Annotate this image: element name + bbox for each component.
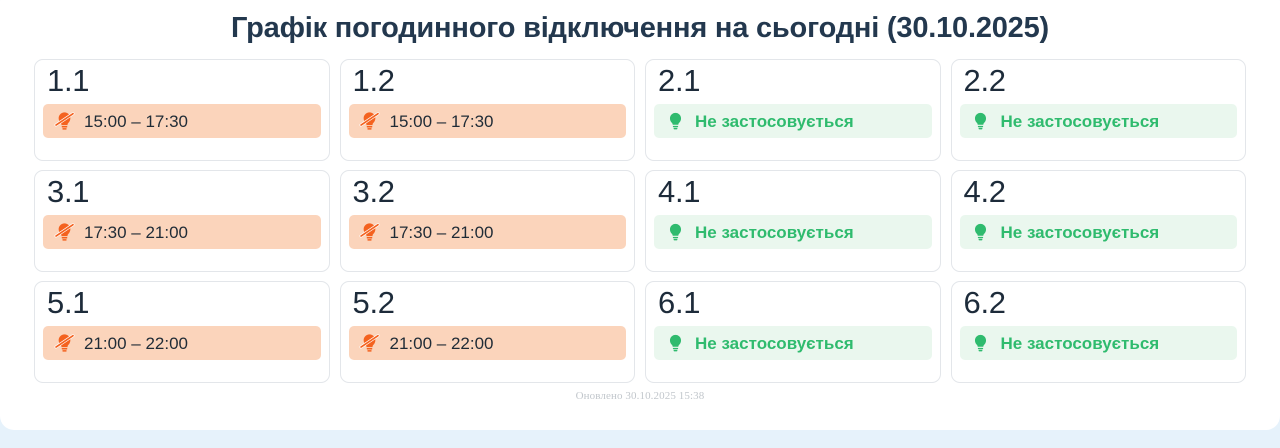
group-status-text: 17:30 – 21:00 xyxy=(390,224,494,241)
group-status-text: Не застосовується xyxy=(695,224,854,241)
bulb-off-icon xyxy=(359,109,381,133)
group-status-text: 17:30 – 21:00 xyxy=(84,224,188,241)
bulb-on-icon xyxy=(970,220,992,244)
bulb-on-icon xyxy=(970,331,992,355)
group-status-row: 21:00 – 22:00 xyxy=(43,326,321,360)
group-number-label: 2.1 xyxy=(654,64,932,99)
page-title: Графік погодинного відключення на сьогод… xyxy=(0,0,1280,45)
outage-group-card[interactable]: 2.1Не застосовується xyxy=(645,59,941,161)
group-status-text: 15:00 – 17:30 xyxy=(84,113,188,130)
outage-group-card[interactable]: 4.2Не застосовується xyxy=(951,170,1247,272)
group-status-row: 17:30 – 21:00 xyxy=(349,215,627,249)
bulb-off-icon xyxy=(359,331,381,355)
group-number-label: 6.2 xyxy=(960,286,1238,321)
bulb-on-icon xyxy=(664,220,686,244)
group-number-label: 5.2 xyxy=(349,286,627,321)
group-status-row: Не застосовується xyxy=(654,215,932,249)
outage-group-card[interactable]: 1.115:00 – 17:30 xyxy=(34,59,330,161)
group-status-text: 21:00 – 22:00 xyxy=(84,335,188,352)
group-number-label: 6.1 xyxy=(654,286,932,321)
outage-group-card[interactable]: 5.221:00 – 22:00 xyxy=(340,281,636,383)
group-number-label: 3.2 xyxy=(349,175,627,210)
outage-group-card[interactable]: 4.1Не застосовується xyxy=(645,170,941,272)
bulb-on-icon xyxy=(664,109,686,133)
group-status-row: 15:00 – 17:30 xyxy=(349,104,627,138)
group-status-text: Не застосовується xyxy=(1001,113,1160,130)
outage-group-card[interactable]: 6.1Не застосовується xyxy=(645,281,941,383)
group-number-label: 4.1 xyxy=(654,175,932,210)
group-status-row: 15:00 – 17:30 xyxy=(43,104,321,138)
outage-group-card[interactable]: 5.121:00 – 22:00 xyxy=(34,281,330,383)
group-status-row: 21:00 – 22:00 xyxy=(349,326,627,360)
group-status-row: Не застосовується xyxy=(960,326,1238,360)
outage-group-grid: 1.115:00 – 17:301.215:00 – 17:302.1Не за… xyxy=(34,45,1246,383)
group-number-label: 5.1 xyxy=(43,286,321,321)
group-status-text: 15:00 – 17:30 xyxy=(390,113,494,130)
bulb-on-icon xyxy=(664,331,686,355)
bulb-off-icon xyxy=(53,220,75,244)
outage-group-card[interactable]: 3.217:30 – 21:00 xyxy=(340,170,636,272)
bulb-off-icon xyxy=(53,109,75,133)
outage-group-card[interactable]: 2.2Не застосовується xyxy=(951,59,1247,161)
outage-group-card[interactable]: 6.2Не застосовується xyxy=(951,281,1247,383)
group-status-row: 17:30 – 21:00 xyxy=(43,215,321,249)
group-status-text: 21:00 – 22:00 xyxy=(390,335,494,352)
group-status-row: Не застосовується xyxy=(960,104,1238,138)
group-status-row: Не застосовується xyxy=(960,215,1238,249)
group-status-row: Не застосовується xyxy=(654,104,932,138)
group-number-label: 3.1 xyxy=(43,175,321,210)
bulb-off-icon xyxy=(53,331,75,355)
group-number-label: 1.1 xyxy=(43,64,321,99)
group-number-label: 4.2 xyxy=(960,175,1238,210)
group-number-label: 2.2 xyxy=(960,64,1238,99)
group-status-text: Не застосовується xyxy=(1001,224,1160,241)
group-status-text: Не застосовується xyxy=(1001,335,1160,352)
group-number-label: 1.2 xyxy=(349,64,627,99)
schedule-panel: Графік погодинного відключення на сьогод… xyxy=(0,0,1280,430)
group-status-text: Не застосовується xyxy=(695,335,854,352)
group-status-row: Не застосовується xyxy=(654,326,932,360)
outage-group-card[interactable]: 3.117:30 – 21:00 xyxy=(34,170,330,272)
bulb-off-icon xyxy=(359,220,381,244)
outage-group-card[interactable]: 1.215:00 – 17:30 xyxy=(340,59,636,161)
bulb-on-icon xyxy=(970,109,992,133)
group-status-text: Не застосовується xyxy=(695,113,854,130)
last-updated-note: Оновлено 30.10.2025 15:38 xyxy=(0,390,1280,402)
